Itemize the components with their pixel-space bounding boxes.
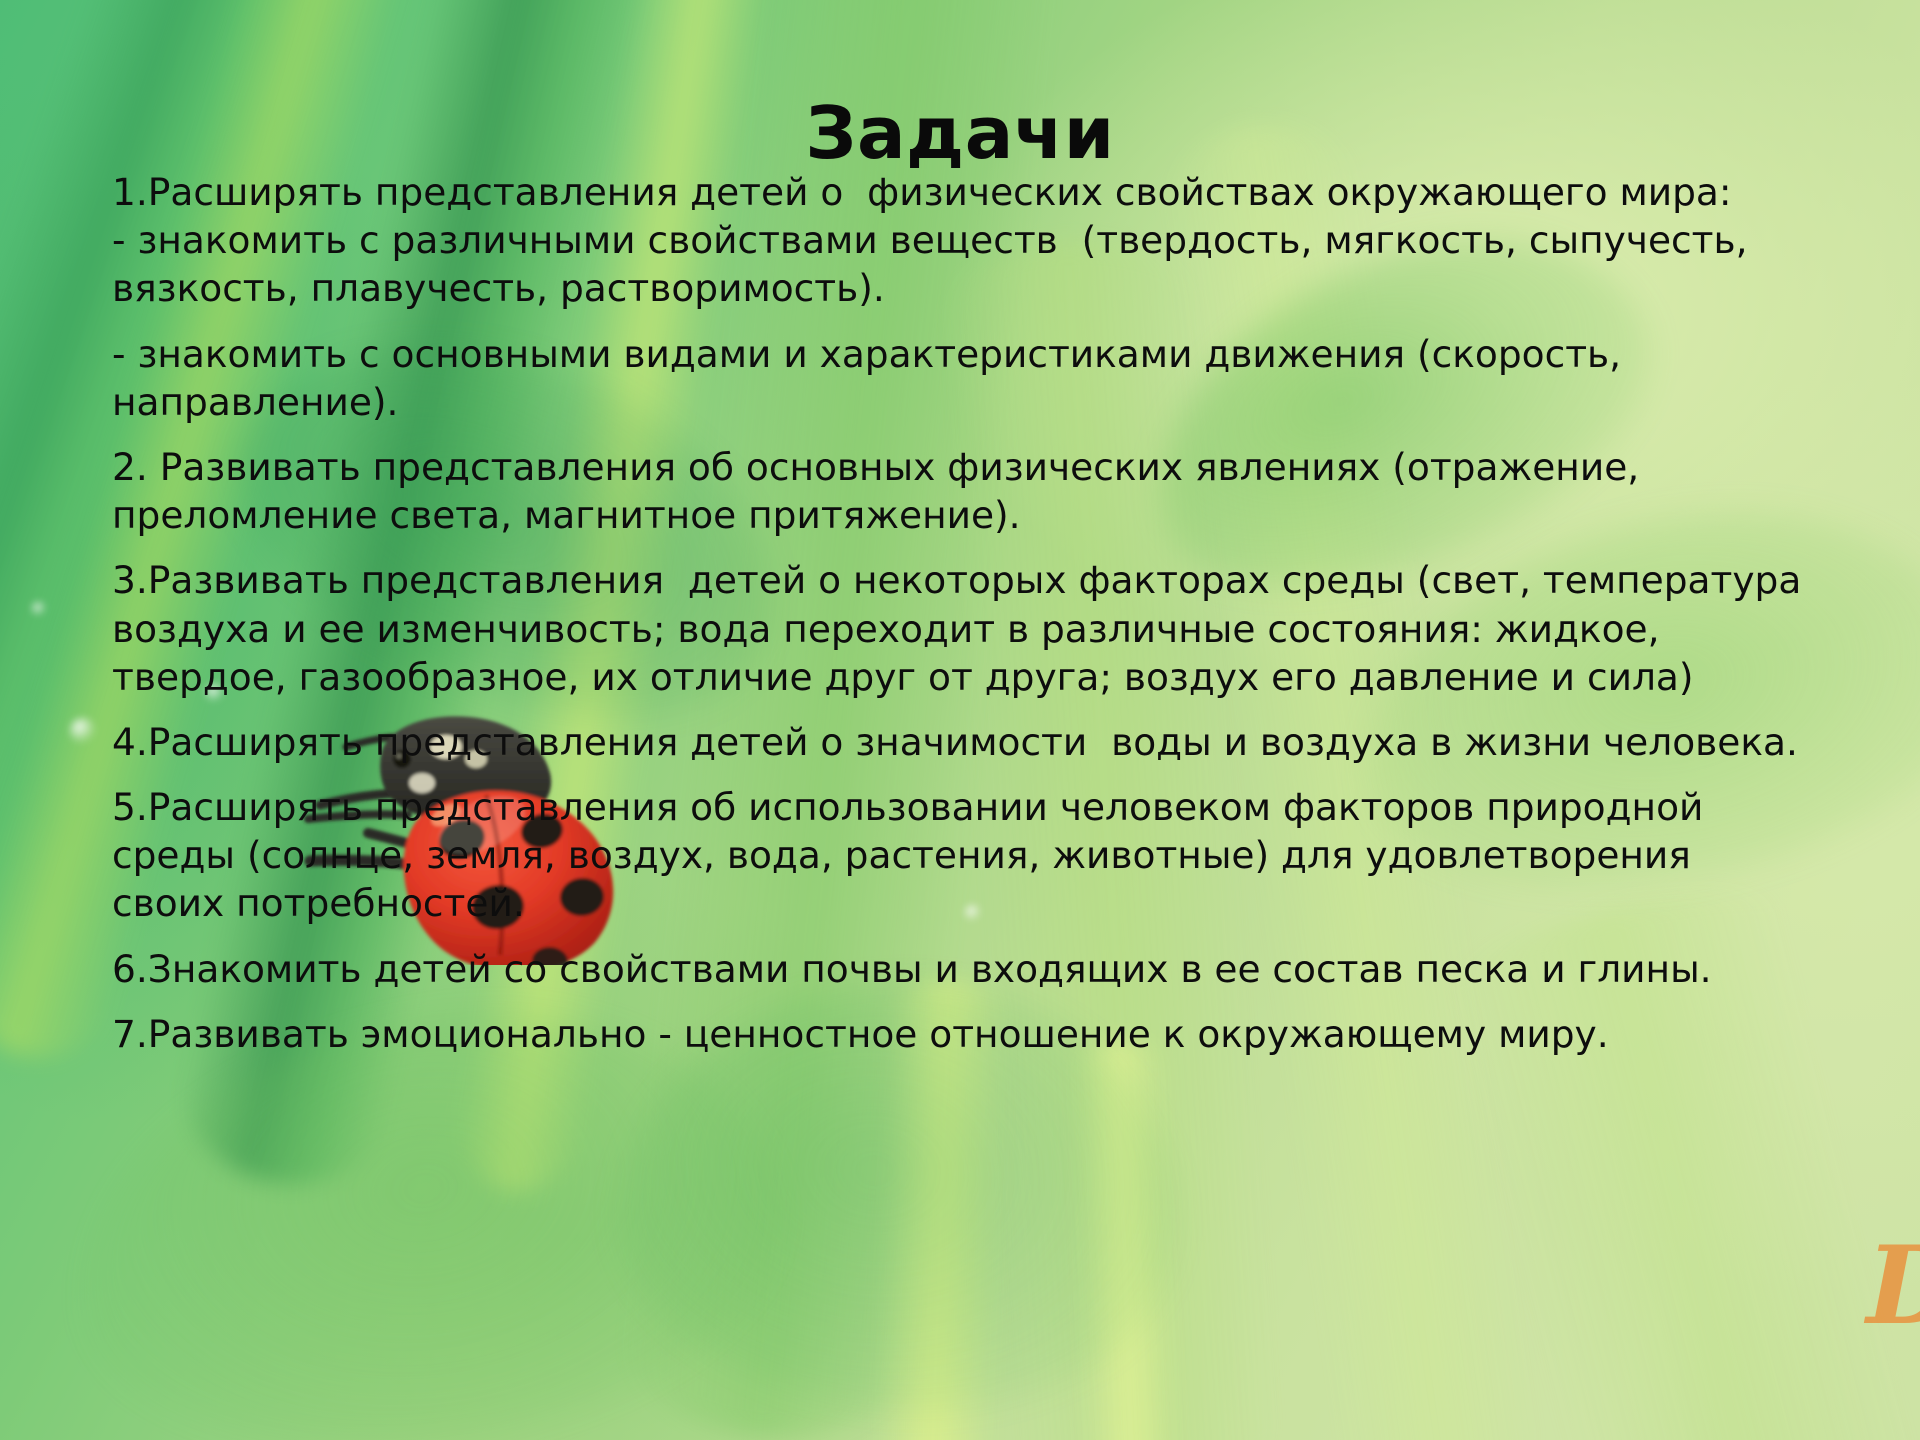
objectives-list: 1.Расширять представления детей о физиче… (112, 168, 1812, 1058)
page-title: Задачи (0, 96, 1920, 172)
objective-item-4: 3.Развивать представления детей о некото… (112, 556, 1812, 701)
objective-item-7: 6.Знакомить детей со свойствами почвы и … (112, 945, 1812, 993)
corner-watermark: D (1866, 1232, 1920, 1340)
objective-item-1: 1.Расширять представления детей о физиче… (112, 168, 1812, 313)
slide: Задачи 1.Расширять представления детей о… (0, 0, 1920, 1440)
objective-item-2: - знакомить с основными видами и характе… (112, 330, 1812, 426)
objective-item-3: 2. Развивать представления об основных ф… (112, 443, 1812, 539)
objective-item-8: 7.Развивать эмоционально - ценностное от… (112, 1010, 1812, 1058)
objective-item-5: 4.Расширять представления детей о значим… (112, 718, 1812, 766)
objective-item-6: 5.Расширять представления об использован… (112, 783, 1812, 928)
slide-content: Задачи 1.Расширять представления детей о… (0, 0, 1920, 1440)
